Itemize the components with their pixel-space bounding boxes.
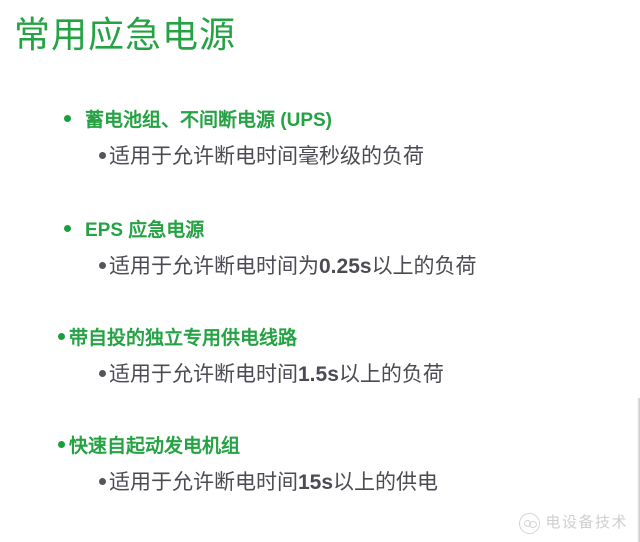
sub-bullet-emphasis: 15s xyxy=(298,471,333,494)
bullet-group: EPS 应急电源 适用于允许断电时间为0.25s以上的负荷 xyxy=(0,216,640,282)
bullet-group: 快速自起动发电机组 适用于允许断电时间15s以上的供电 xyxy=(0,432,640,498)
page-title: 常用应急电源 xyxy=(14,12,236,58)
bullet-label: 快速自起动发电机组 xyxy=(69,432,240,462)
bullet-label: 蓄电池组、不间断电源 (UPS) xyxy=(85,106,332,136)
sub-bullet-label: 适用于允许断电时间15s以上的供电 xyxy=(109,468,438,498)
bullet-dot-icon xyxy=(64,225,71,232)
sub-bullet-prefix: 适用于允许断电时间 xyxy=(109,471,298,494)
sub-bullet-suffix: 以上的负荷 xyxy=(339,363,444,386)
sub-bullet-item-2: 适用于允许断电时间为0.25s以上的负荷 xyxy=(0,252,640,282)
sub-bullet-suffix: 以上的供电 xyxy=(333,471,438,494)
sub-bullet-item-4: 适用于允许断电时间15s以上的供电 xyxy=(0,468,640,498)
sub-bullet-prefix: 适用于允许断电时间 xyxy=(109,363,298,386)
sub-bullet-dot-icon xyxy=(99,262,106,269)
sub-bullet-label: 适用于允许断电时间为0.25s以上的负荷 xyxy=(109,252,477,282)
sub-bullet-emphasis: 1.5s xyxy=(298,363,339,386)
sub-bullet-dot-icon xyxy=(99,478,106,485)
sub-bullet-dot-icon xyxy=(99,370,106,377)
bullet-group: 蓄电池组、不间断电源 (UPS) 适用于允许断电时间毫秒级的负荷 xyxy=(0,106,640,172)
sub-bullet-prefix: 适用于允许断电时间为 xyxy=(109,255,319,278)
bullet-label: 带自投的独立专用供电线路 xyxy=(69,324,297,354)
watermark-text: 电设备技术 xyxy=(545,514,628,533)
sub-bullet-label: 适用于允许断电时间1.5s以上的负荷 xyxy=(109,360,444,390)
sub-bullet-label: 适用于允许断电时间毫秒级的负荷 xyxy=(109,142,424,172)
bullet-dot-icon xyxy=(58,333,65,340)
sub-bullet-dot-icon xyxy=(99,152,106,159)
bullet-list: 蓄电池组、不间断电源 (UPS) 适用于允许断电时间毫秒级的负荷 EPS 应急电… xyxy=(0,106,640,498)
sub-bullet-emphasis: 0.25s xyxy=(319,255,372,278)
bullet-item-1: 蓄电池组、不间断电源 (UPS) xyxy=(0,106,640,136)
slide-canvas: 常用应急电源 蓄电池组、不间断电源 (UPS) 适用于允许断电时间毫秒级的负荷 … xyxy=(0,0,640,542)
sub-bullet-item-1: 适用于允许断电时间毫秒级的负荷 xyxy=(0,142,640,172)
bullet-item-2: EPS 应急电源 xyxy=(0,216,640,246)
bullet-item-4: 快速自起动发电机组 xyxy=(0,432,640,462)
sub-bullet-item-3: 适用于允许断电时间1.5s以上的负荷 xyxy=(0,360,640,390)
bullet-label: EPS 应急电源 xyxy=(85,216,204,246)
bullet-group: 带自投的独立专用供电线路 适用于允许断电时间1.5s以上的负荷 xyxy=(0,324,640,390)
watermark: 电设备技术 xyxy=(519,513,628,534)
bullet-dot-icon xyxy=(58,441,65,448)
sub-bullet-suffix: 以上的负荷 xyxy=(372,255,477,278)
sub-bullet-prefix: 适用于允许断电时间毫秒级的负荷 xyxy=(109,145,424,168)
circle-logo-icon xyxy=(519,513,540,534)
bullet-item-3: 带自投的独立专用供电线路 xyxy=(0,324,640,354)
bullet-dot-icon xyxy=(64,115,71,122)
